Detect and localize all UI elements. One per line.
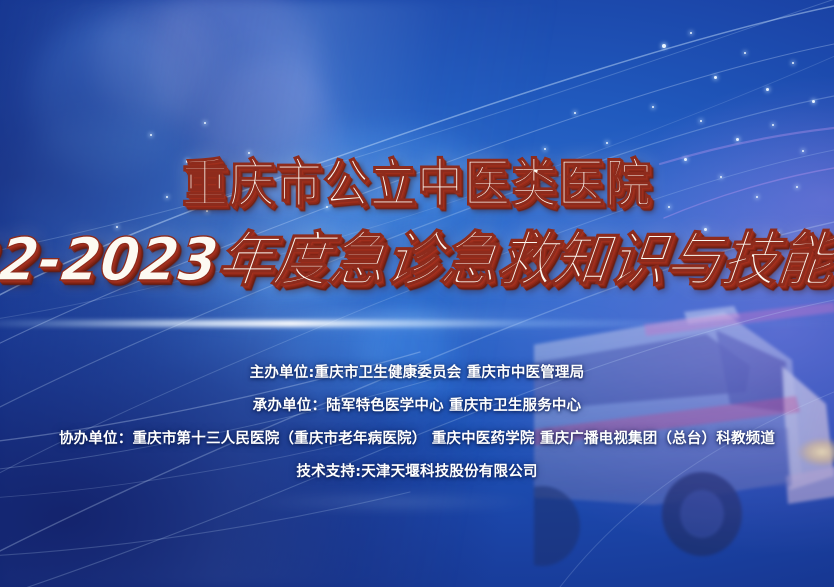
credit-co-organizer: 协办单位：重庆市第十三人民医院（重庆市老年病医院） 重庆中医药学院 重庆广播电视… (59, 432, 775, 447)
credit-host: 承办单位：陆军特色医学中心 重庆市卫生服务中心 (253, 399, 582, 414)
credit-organizer: 主办单位:重庆市卫生健康委员会 重庆市中医管理局 (250, 366, 585, 381)
page-title: 重庆市公立中医类医院 (182, 157, 652, 210)
page-subtitle: 2022-2023年度急诊急救知识与技能竞赛 (0, 231, 834, 290)
credit-tech-support: 技术支持:天津天堰科技股份有限公司 (296, 465, 537, 480)
competition-poster: 重庆市公立中医类医院 2022-2023年度急诊急救知识与技能竞赛 主办单位:重… (0, 0, 834, 587)
credits-block: 主办单位:重庆市卫生健康委员会 重庆市中医管理局 承办单位：陆军特色医学中心 重… (0, 366, 834, 480)
poster-content: 重庆市公立中医类医院 2022-2023年度急诊急救知识与技能竞赛 (0, 0, 834, 587)
